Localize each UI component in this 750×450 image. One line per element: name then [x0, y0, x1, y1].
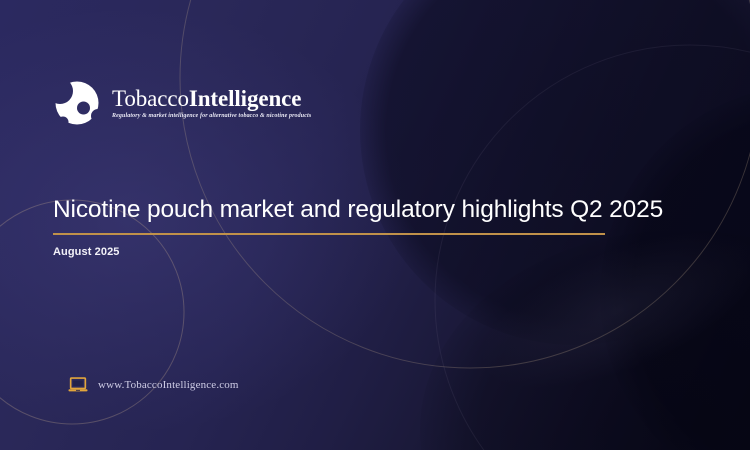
ring-large-upper-right — [180, 0, 750, 368]
publication-date: August 2025 — [53, 246, 120, 258]
laptop-icon — [68, 377, 88, 393]
tobacco-intelligence-mark-icon — [52, 78, 102, 128]
brand-tagline: Regulatory & market intelligence for alt… — [112, 113, 311, 119]
brand-logo: TobaccoIntelligence Regulatory & market … — [52, 78, 311, 128]
footer[interactable]: www.TobaccoIntelligence.com — [68, 377, 239, 393]
brand-name-bold: Intelligence — [189, 86, 302, 111]
footer-website-url[interactable]: www.TobaccoIntelligence.com — [98, 379, 239, 391]
title-slide: TobaccoIntelligence Regulatory & market … — [0, 0, 750, 450]
title-underline-rule — [53, 233, 605, 235]
brand-name-regular: Tobacco — [112, 86, 189, 111]
brand-wordmark: TobaccoIntelligence — [112, 87, 311, 111]
ring-faint-right — [435, 45, 750, 450]
page-title: Nicotine pouch market and regulatory hig… — [53, 196, 663, 224]
